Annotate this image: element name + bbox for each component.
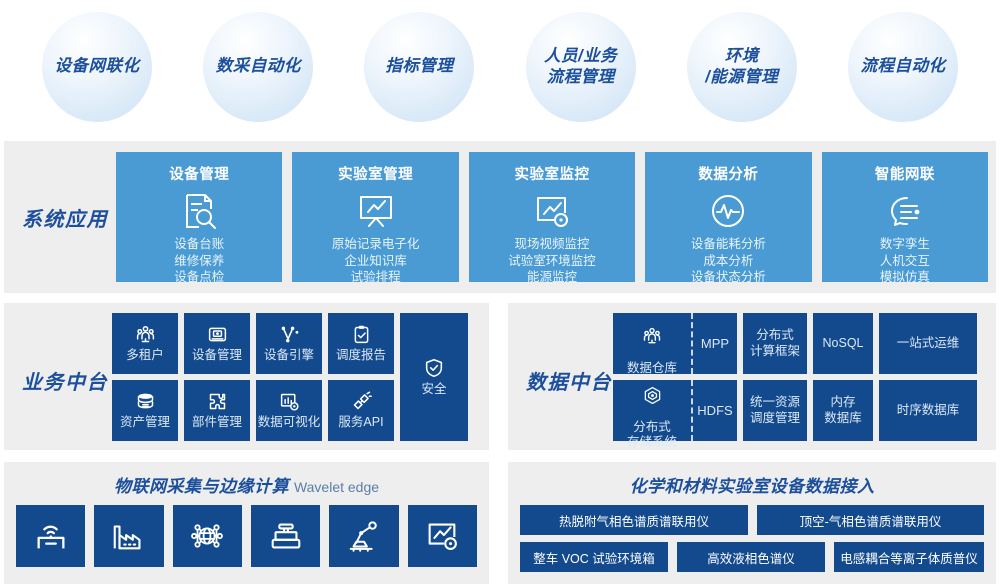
business-tile-data-visualization[interactable]: 数据可视化	[256, 380, 322, 441]
puzzle-piece-icon	[207, 391, 228, 412]
capability-circle-label: 环境 /能源管理	[705, 46, 778, 88]
device-box-icon	[207, 324, 228, 345]
capability-circle[interactable]: 数采自动化	[203, 12, 313, 122]
app-card-subtitle: 设备能耗分析 成本分析 设备状态分析	[691, 236, 766, 286]
app-card-lab-monitoring[interactable]: 实验室监控 现场视频监控 试验室环境监控 能源监控	[469, 152, 635, 282]
data-tile-label: 统一资源 调度管理	[750, 395, 800, 426]
lab-chip-label: 高效液相色谱仪	[707, 548, 795, 567]
capability-circle-label: 数采自动化	[216, 56, 301, 77]
business-tile-device-management[interactable]: 设备管理	[184, 313, 250, 374]
business-tile-column: 多租户 资产管理	[112, 313, 178, 441]
capability-circle-label: 人员/业务 流程管理	[544, 46, 617, 88]
business-tile-column: 设备管理 部件管理	[184, 313, 250, 441]
data-tile-in-memory-db[interactable]: 内存 数据库	[813, 380, 873, 441]
monitor-chart-icon	[532, 191, 572, 231]
app-card-subtitle: 数字孪生 人机交互 模拟仿真	[880, 236, 930, 286]
capability-circle[interactable]: 设备网联化	[42, 12, 152, 122]
capability-circle-label: 指标管理	[385, 56, 453, 77]
lab-chip-row: 整车 VOC 试验环境箱 高效液相色谱仪 电感耦合等离子体质普仪	[520, 542, 984, 572]
data-tile-unified-resource-scheduling[interactable]: 统一资源 调度管理	[743, 380, 807, 441]
lab-chip-label: 热脱附气相色谱质谱联用仪	[559, 511, 709, 530]
business-tile-dispatch-report[interactable]: 调度报告	[328, 313, 394, 374]
app-card-title: 数据分析	[698, 163, 758, 184]
system-application-cards: 设备管理 设备台账 维修保养 设备点检 实验室管理	[116, 152, 988, 282]
row-label-data-platform: 数据中台	[526, 366, 612, 395]
app-card-title: 实验室监控	[515, 163, 590, 184]
app-card-subtitle: 现场视频监控 试验室环境监控 能源监控	[508, 236, 596, 286]
data-tile-distributed-compute[interactable]: 分布式 计算框架	[743, 313, 807, 374]
data-tile-distributed-storage[interactable]: 分布式 存储系统 HDFS	[613, 380, 737, 441]
data-tile-time-series-db[interactable]: 时序数据库	[879, 380, 977, 441]
data-tile-row: 数据仓库 MPP 分布式 计算框架 NoSQL 一站式运维	[613, 313, 977, 374]
capability-circle-label: 设备网联化	[55, 56, 140, 77]
data-tile-label: 分布式 计算框架	[750, 328, 800, 359]
business-tile-label: 服务API	[338, 415, 383, 430]
lab-chip-label: 整车 VOC 试验环境箱	[533, 548, 655, 567]
lab-chip-label: 顶空-气相色谱质谱联用仪	[800, 511, 942, 530]
database-stack-icon	[135, 391, 156, 412]
app-card-device-management[interactable]: 设备管理 设备台账 维修保养 设备点检	[116, 152, 282, 282]
data-tile-label: 一站式运维	[897, 336, 960, 351]
business-tile-label: 部件管理	[192, 415, 242, 430]
hexagon-layers-icon	[643, 371, 662, 421]
data-tile-label: 时序数据库	[897, 403, 960, 418]
clipboard-check-icon	[351, 324, 372, 345]
warehouse-left: 分布式 存储系统	[613, 380, 693, 441]
capability-circle[interactable]: 指标管理	[364, 12, 474, 122]
business-tile-label: 设备管理	[192, 348, 242, 363]
capability-circle[interactable]: 流程自动化	[848, 12, 958, 122]
document-search-icon	[179, 191, 219, 231]
business-tile-label: 数据可视化	[258, 415, 321, 430]
lab-chip-td-gcms[interactable]: 热脱附气相色谱质谱联用仪	[520, 505, 748, 535]
data-tile-warehouse[interactable]: 数据仓库 MPP	[613, 313, 737, 374]
capability-circle[interactable]: 环境 /能源管理	[687, 12, 797, 122]
row-label-business-platform: 业务中台	[22, 366, 108, 395]
lab-chip-icp-ms[interactable]: 电感耦合等离子体质普仪	[834, 542, 984, 572]
warehouse-engine: MPP	[693, 313, 737, 374]
business-tile-label: 设备引擎	[264, 348, 314, 363]
lab-chip-row: 热脱附气相色谱质谱联用仪 顶空-气相色谱质谱联用仪	[520, 505, 984, 535]
business-tile-asset-management[interactable]: 资产管理	[112, 380, 178, 441]
business-tile-column: 设备引擎 数据可视化	[256, 313, 322, 441]
iot-panel-title: 物联网采集与边缘计算	[114, 477, 289, 496]
data-tile-one-stop-ops[interactable]: 一站式运维	[879, 313, 977, 374]
data-tile-nosql[interactable]: NoSQL	[813, 313, 873, 374]
business-tile-column: 调度报告 服务API	[328, 313, 394, 441]
robot-arm-icon[interactable]	[329, 505, 398, 567]
business-tile-label: 资产管理	[120, 415, 170, 430]
row-label-system-applications: 系统应用	[22, 203, 108, 232]
business-tile-multi-tenant[interactable]: 多租户	[112, 313, 178, 374]
app-card-smart-connected[interactable]: 智能网联 数字孪生 人机交互 模拟仿真	[822, 152, 988, 282]
architecture-diagram: 设备网联化 数采自动化 指标管理 人员/业务 流程管理 环境 /能源管理 流程自…	[0, 0, 1000, 588]
app-card-subtitle: 原始记录电子化 企业知识库 试验排程	[332, 236, 420, 286]
lab-panel-title: 化学和材料实验室设备数据接入	[508, 462, 996, 497]
data-tile-label: NoSQL	[823, 336, 864, 351]
lab-chip-headspace-gcms[interactable]: 顶空-气相色谱质谱联用仪	[757, 505, 984, 535]
pulse-circle-icon	[708, 191, 748, 231]
capability-circle[interactable]: 人员/业务 流程管理	[526, 12, 636, 122]
data-tile-row: 分布式 存储系统 HDFS 统一资源 调度管理 内存 数据库 时序数据库	[613, 380, 977, 441]
business-tile-column-security: 安全	[400, 313, 468, 441]
shield-check-icon	[423, 357, 445, 379]
system-applications-panel: 设备管理 设备台账 维修保养 设备点检 实验室管理	[4, 141, 996, 293]
business-tile-service-api[interactable]: 服务API	[328, 380, 394, 441]
business-tile-security[interactable]: 安全	[400, 313, 468, 441]
app-card-data-analysis[interactable]: 数据分析 设备能耗分析 成本分析 设备状态分析	[645, 152, 811, 282]
data-tile-grid: 数据仓库 MPP 分布式 计算框架 NoSQL 一站式运维	[613, 313, 977, 441]
warehouse-left: 数据仓库	[613, 313, 693, 374]
sensor-device-icon[interactable]	[251, 505, 320, 567]
business-tile-label: 安全	[421, 382, 446, 397]
business-tile-label: 调度报告	[336, 348, 386, 363]
capability-circle-label: 流程自动化	[860, 56, 945, 77]
factory-icon[interactable]	[94, 505, 163, 567]
capability-circle-row: 设备网联化 数采自动化 指标管理 人员/业务 流程管理 环境 /能源管理 流程自…	[0, 0, 1000, 134]
plug-connect-icon	[351, 391, 372, 412]
users-group-icon	[135, 324, 156, 345]
users-group-icon	[642, 311, 662, 362]
iot-icon-row	[4, 497, 489, 567]
network-globe-icon[interactable]	[173, 505, 242, 567]
app-card-title: 实验室管理	[338, 163, 413, 184]
lab-equipment-panel: 化学和材料实验室设备数据接入 热脱附气相色谱质谱联用仪 顶空-气相色谱质谱联用仪…	[508, 462, 996, 584]
warehouse-engine: HDFS	[693, 380, 737, 441]
business-tile-device-engine[interactable]: 设备引擎	[256, 313, 322, 374]
business-tile-grid: 多租户 资产管理	[112, 313, 468, 441]
wifi-gateway-icon[interactable]	[16, 505, 85, 567]
business-tile-component-management[interactable]: 部件管理	[184, 380, 250, 441]
smart-connect-icon	[885, 191, 925, 231]
iot-panel-title-wrap: 物联网采集与边缘计算Wavelet edge	[4, 462, 489, 497]
lab-chip-voc-chamber[interactable]: 整车 VOC 试验环境箱	[520, 542, 668, 572]
iot-panel-subtitle: Wavelet edge	[294, 479, 379, 495]
lab-chip-hplc[interactable]: 高效液相色谱仪	[677, 542, 825, 572]
iot-edge-panel: 物联网采集与边缘计算Wavelet edge	[4, 462, 489, 584]
app-card-lab-management[interactable]: 实验室管理 原始记录电子化 企业知识库 试验排程	[292, 152, 458, 282]
lab-chip-rows: 热脱附气相色谱质谱联用仪 顶空-气相色谱质谱联用仪 整车 VOC 试验环境箱 高…	[508, 497, 996, 572]
lab-chip-label: 电感耦合等离子体质普仪	[840, 548, 978, 567]
node-branch-icon	[279, 324, 300, 345]
business-tile-label: 多租户	[126, 348, 164, 363]
warehouse-label: 分布式 存储系统	[627, 420, 677, 451]
data-tile-label: 内存 数据库	[824, 395, 862, 426]
presentation-chart-icon	[356, 191, 396, 231]
bar-chart-view-icon	[279, 391, 300, 412]
app-card-title: 设备管理	[169, 163, 229, 184]
monitor-chart-icon[interactable]	[408, 505, 477, 567]
app-card-title: 智能网联	[875, 163, 935, 184]
app-card-subtitle: 设备台账 维修保养 设备点检	[174, 236, 224, 286]
